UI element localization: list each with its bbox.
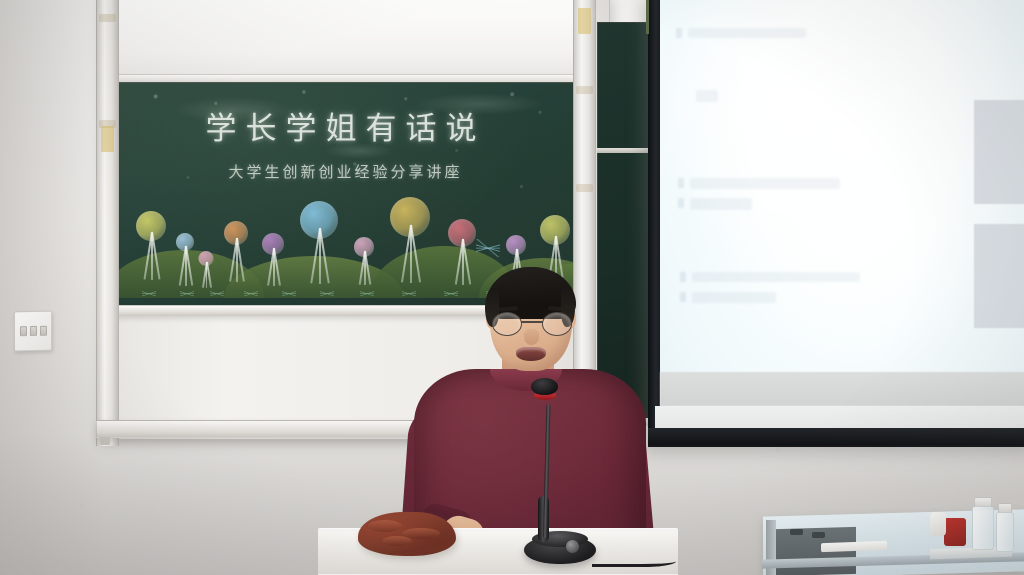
slide-image-block xyxy=(974,224,1024,328)
projector-screen-bottom-border xyxy=(648,428,1024,445)
projector-screen-green-edge xyxy=(646,0,649,34)
chalk-grass-tuft xyxy=(142,288,156,299)
glasses-lens xyxy=(542,312,572,336)
folded-jacket xyxy=(358,512,456,556)
microphone-cable xyxy=(592,553,676,567)
slide-text-row xyxy=(696,90,718,102)
chalk-dandelion xyxy=(300,201,338,295)
light-switch-toggle[interactable] xyxy=(30,326,37,336)
light-switch-plate[interactable] xyxy=(14,311,52,352)
chalk-dandelion xyxy=(224,221,248,289)
chalk-dandelion xyxy=(136,211,166,289)
blackboard-left-rail xyxy=(96,0,119,446)
jacket-fold xyxy=(382,536,412,546)
blackboard-title: 学长学姐有话说 xyxy=(114,103,577,148)
slide-bullet-marker xyxy=(678,178,684,188)
slide-image-block xyxy=(974,100,1024,204)
slide-bullet-marker xyxy=(678,198,684,208)
blackboard-upper-panel xyxy=(112,0,580,78)
microphone-capsule-icon xyxy=(531,378,558,395)
jacket-fold xyxy=(368,520,402,532)
slide-text-row xyxy=(688,28,806,38)
slide-bullet-marker xyxy=(676,28,682,38)
glasses-bridge xyxy=(521,321,543,323)
projector-screen-surface xyxy=(660,0,1024,429)
slide-text-row xyxy=(692,272,860,282)
right-desk-slot xyxy=(812,532,825,538)
microphone-knob[interactable] xyxy=(566,540,579,553)
chalk-grass-tuft xyxy=(282,288,296,299)
right-desk-slot xyxy=(790,529,803,535)
speaker-mouth xyxy=(516,347,546,361)
chalk-dandelion xyxy=(176,233,194,291)
blackboard-subtitle: 大学生创新创业经验分享讲座 xyxy=(114,161,577,182)
chalk-blue-shrub-icon xyxy=(476,239,500,257)
slide-bullet-marker xyxy=(680,272,686,282)
glasses-lens xyxy=(492,312,522,336)
light-switch-toggle[interactable] xyxy=(40,326,47,336)
slide-text-row xyxy=(692,292,776,303)
slide-text-row xyxy=(690,198,752,210)
speaker-nose xyxy=(524,329,539,345)
blackboard-frame-foot xyxy=(100,437,110,445)
chalk-dandelion xyxy=(262,233,284,293)
classroom-photo-scene: 学长学姐有话说 大学生创新创业经验分享讲座 xyxy=(0,0,1024,575)
projector-screen-footer-band xyxy=(660,372,1024,406)
white-cup xyxy=(930,512,946,536)
light-switch-toggle[interactable] xyxy=(20,326,27,336)
chalk-grass-tuft xyxy=(244,288,258,299)
clear-plastic-bottle xyxy=(972,506,994,550)
clear-plastic-bottle xyxy=(996,512,1014,552)
chalk-dandelion xyxy=(354,237,374,291)
chalk-dandelion xyxy=(198,251,213,292)
slide-bullet-marker xyxy=(680,292,686,302)
red-packet xyxy=(944,518,966,546)
slide-text-row xyxy=(690,178,840,189)
